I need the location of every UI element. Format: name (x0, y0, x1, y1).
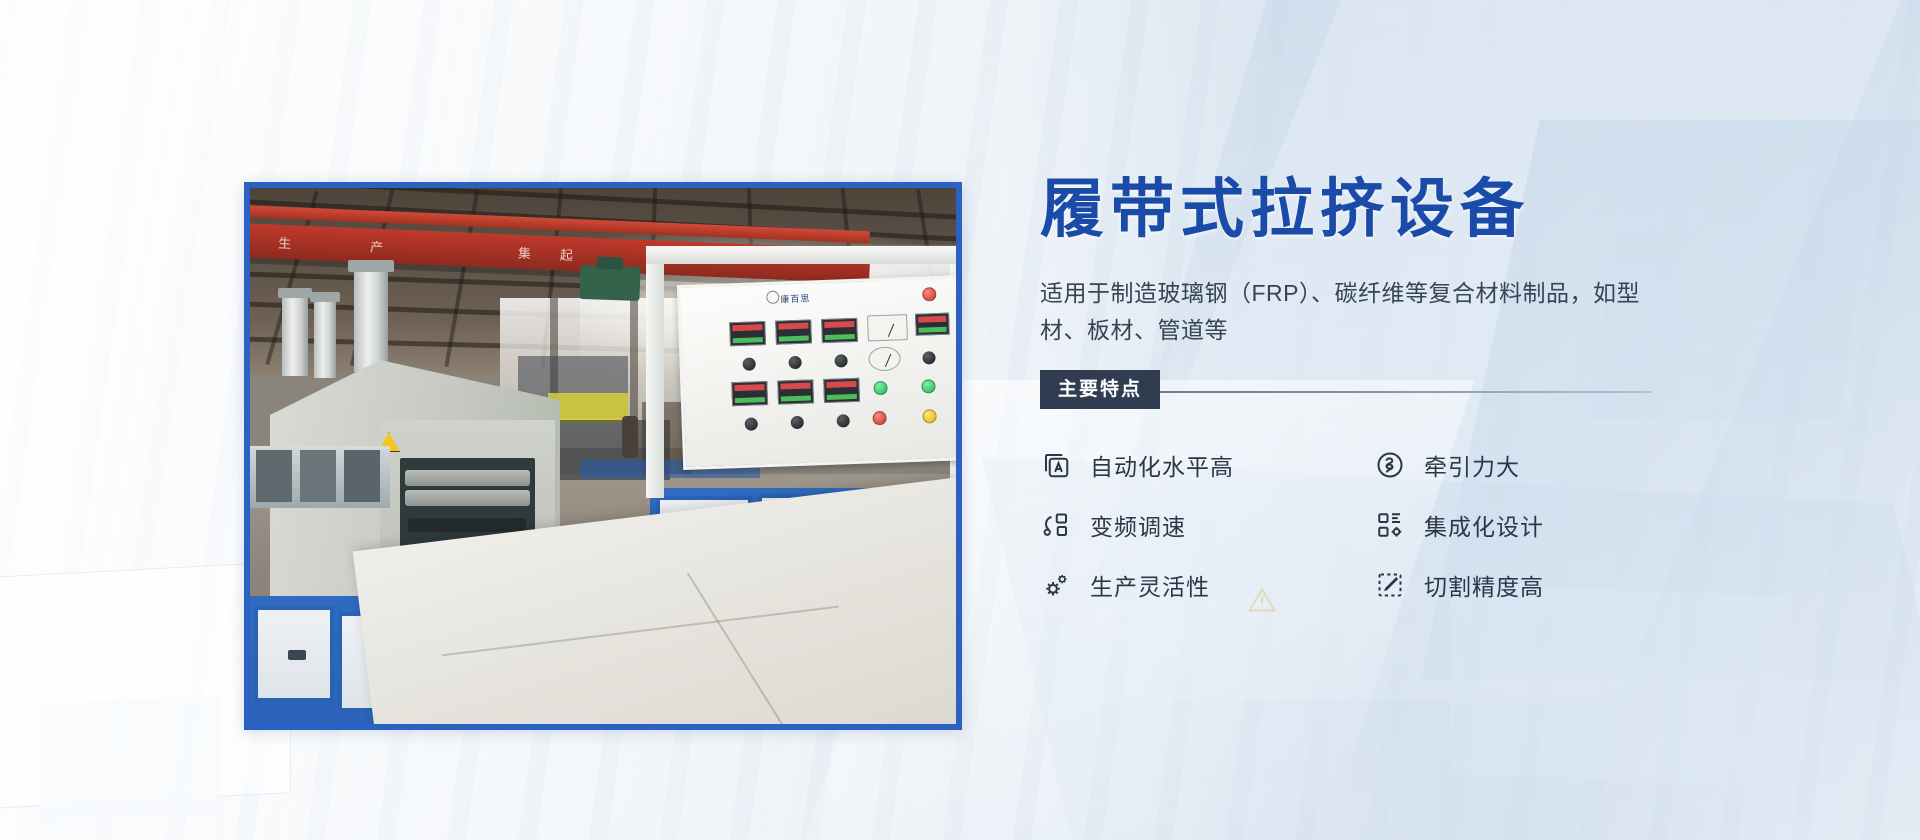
feature-label: 牵引力大 (1424, 448, 1520, 482)
feature-label: 切割精度高 (1424, 568, 1544, 602)
photo-roller-2 (405, 490, 530, 506)
photo-bg-yellow-rack (548, 393, 628, 423)
photo-gantry-beam (646, 246, 956, 264)
traction-spiral-icon (1374, 449, 1406, 481)
product-banner: 生 产 集 起 (0, 0, 1920, 840)
product-description: 适用于制造玻璃钢（FRP）、碳纤维等复合材料制品，如型材、板材、管道等 (1040, 275, 1640, 348)
feature-label: 自动化水平高 (1090, 448, 1234, 482)
letter-a-in-box-icon (1040, 449, 1072, 481)
photo-cabinet-handle-1 (288, 650, 306, 660)
photo-control-panel: 康百思 (677, 275, 956, 470)
photo-cylinder-cap-3 (348, 260, 394, 272)
section-divider-wrap: 主要特点 (1040, 370, 1700, 410)
photo-side-window-pane-3 (344, 450, 380, 502)
feature-item-precision[interactable]: 切割精度高 (1374, 568, 1700, 602)
product-photo: 生 产 集 起 (250, 188, 956, 724)
photo-side-window-pane-2 (300, 450, 336, 502)
photo-gantry-post-left (646, 258, 664, 498)
crane-char-4: 起 (560, 244, 574, 264)
photo-cylinder-2 (314, 300, 336, 378)
feature-label: 变频调速 (1090, 508, 1186, 542)
gears-icon (1040, 569, 1072, 601)
photo-cylinder-3 (354, 270, 388, 372)
feature-label: 集成化设计 (1424, 508, 1544, 542)
photo-cylinder-cap-1 (278, 288, 312, 298)
feature-item-flexibility[interactable]: 生产灵活性 (1040, 568, 1374, 602)
feature-list: 自动化水平高 牵引力大 (1040, 448, 1700, 602)
frequency-nodes-icon (1040, 509, 1072, 541)
background-warning-triangle-icon (1245, 585, 1279, 615)
photo-cylinder-1 (282, 296, 308, 376)
integration-tree-icon (1374, 509, 1406, 541)
photo-roller-3 (408, 518, 526, 532)
photo-panel-brand: 康百思 (780, 291, 810, 305)
photo-cylinder-cap-2 (310, 292, 340, 302)
feature-item-automation[interactable]: 自动化水平高 (1040, 448, 1374, 482)
banner-content: 履带式拉挤设备 适用于制造玻璃钢（FRP）、碳纤维等复合材料制品，如型材、板材、… (1040, 176, 1700, 602)
feature-item-frequency[interactable]: 变频调速 (1040, 508, 1374, 542)
product-photo-card[interactable]: 生 产 集 起 (244, 182, 962, 730)
crane-char-2: 产 (370, 236, 384, 256)
feature-label: 生产灵活性 (1090, 568, 1210, 602)
photo-side-window-pane-1 (256, 450, 292, 502)
crane-char-1: 生 (278, 233, 292, 253)
status-badge: 主要特点 (1040, 370, 1160, 409)
photo-crane-hoist (579, 265, 640, 301)
background-ghost-block-3 (1450, 584, 1790, 786)
precision-pen-icon (1374, 569, 1406, 601)
crane-char-3: 集 (518, 243, 532, 263)
photo-worker (622, 416, 638, 458)
feature-item-traction[interactable]: 牵引力大 (1374, 448, 1700, 482)
background-ghost-block-2 (40, 695, 220, 824)
page-title: 履带式拉挤设备 (1040, 176, 1700, 243)
feature-item-integration[interactable]: 集成化设计 (1374, 508, 1700, 542)
photo-roller-1 (405, 470, 530, 486)
